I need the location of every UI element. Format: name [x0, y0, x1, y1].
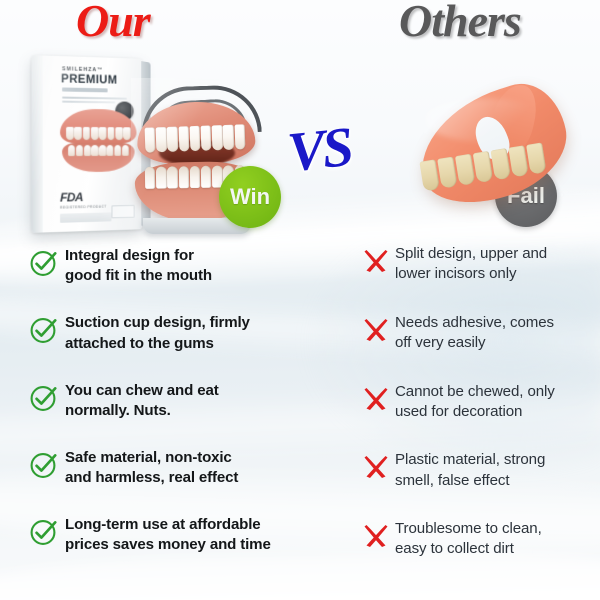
check-circle-icon: [28, 247, 60, 279]
list-item: Integral design for good fit in the mout…: [28, 246, 310, 287]
list-item-text: Integral design for good fit in the mout…: [65, 246, 212, 287]
list-item-text: Plastic material, strong smell, false ef…: [395, 450, 545, 491]
list-item-line2: good fit in the mouth: [65, 266, 212, 286]
check-circle-icon: [28, 314, 60, 346]
comparison-infographic: Our Others SMILEHZA™ PREMIUM: [0, 0, 600, 600]
cross-mark-icon: [361, 245, 391, 275]
product-box-front: SMILEHZA™ PREMIUM FDA REGISTERED PRODUCT: [32, 55, 143, 233]
cross-mark-icon: [361, 451, 391, 481]
cross-mark-icon: [361, 314, 391, 344]
veneer-gloss-overlay: [425, 98, 545, 142]
list-item-text: Long-term use at affordable prices saves…: [65, 515, 271, 556]
check-circle-icon: [28, 516, 60, 548]
list-item-line1: You can chew and eat: [65, 381, 219, 401]
list-item: Split design, upper and lower incisors o…: [361, 244, 593, 285]
list-item-line2: off very easily: [395, 333, 554, 353]
list-item-line2: used for decoration: [395, 402, 555, 422]
list-item-line2: lower incisors only: [395, 264, 547, 284]
list-item-line1: Integral design for: [65, 246, 212, 266]
list-item-text: Split design, upper and lower incisors o…: [395, 244, 547, 285]
list-item-line2: and harmless, real effect: [65, 468, 238, 488]
versus-label: VS: [285, 115, 354, 185]
list-item-line1: Split design, upper and: [395, 244, 547, 264]
list-item-line1: Plastic material, strong: [395, 450, 545, 470]
fda-logo-icon: FDA: [60, 190, 83, 205]
list-item-text: Cannot be chewed, only used for decorati…: [395, 382, 555, 423]
list-item-text: Troublesome to clean, easy to collect di…: [395, 519, 542, 560]
list-item-text: Needs adhesive, comes off very easily: [395, 313, 554, 354]
list-item-line1: Troublesome to clean,: [395, 519, 542, 539]
list-item-line1: Needs adhesive, comes: [395, 313, 554, 333]
partial-veneer-image: [415, 82, 600, 212]
list-item-line1: Safe material, non-toxic: [65, 448, 238, 468]
list-item-line1: Long-term use at affordable: [65, 515, 271, 535]
list-item-line2: normally. Nuts.: [65, 401, 219, 421]
list-item: Troublesome to clean, easy to collect di…: [361, 519, 593, 560]
list-item: Needs adhesive, comes off very easily: [361, 313, 593, 354]
product-box-spine: [32, 55, 43, 233]
box-gloss-overlay: [32, 55, 143, 233]
list-item-line1: Cannot be chewed, only: [395, 382, 555, 402]
list-item: Safe material, non-toxic and harmless, r…: [28, 448, 310, 489]
list-item-line2: prices saves money and time: [65, 535, 271, 555]
cons-list: Split design, upper and lower incisors o…: [361, 244, 593, 588]
header-others: Others: [399, 0, 521, 47]
list-item: Plastic material, strong smell, false ef…: [361, 450, 593, 491]
header-our: Our: [76, 0, 150, 47]
check-circle-icon: [28, 382, 60, 414]
list-item-line2: attached to the gums: [65, 334, 250, 354]
list-item: Suction cup design, firmly attached to t…: [28, 313, 310, 354]
list-item-text: Safe material, non-toxic and harmless, r…: [65, 448, 238, 489]
pros-list: Integral design for good fit in the mout…: [28, 246, 310, 582]
product-box-image: SMILEHZA™ PREMIUM FDA REGISTERED PRODUCT: [32, 55, 143, 233]
list-item-text: Suction cup design, firmly attached to t…: [65, 313, 250, 354]
list-item-line1: Suction cup design, firmly: [65, 313, 250, 333]
check-circle-icon: [28, 449, 60, 481]
list-item: You can chew and eat normally. Nuts.: [28, 381, 310, 422]
list-item-line2: smell, false effect: [395, 471, 545, 491]
list-item-line2: easy to collect dirt: [395, 539, 542, 559]
cross-mark-icon: [361, 383, 391, 413]
list-item: Long-term use at affordable prices saves…: [28, 515, 310, 556]
list-item: Cannot be chewed, only used for decorati…: [361, 382, 593, 423]
cross-mark-icon: [361, 520, 391, 550]
win-badge: Win: [219, 166, 281, 228]
list-item-text: You can chew and eat normally. Nuts.: [65, 381, 219, 422]
